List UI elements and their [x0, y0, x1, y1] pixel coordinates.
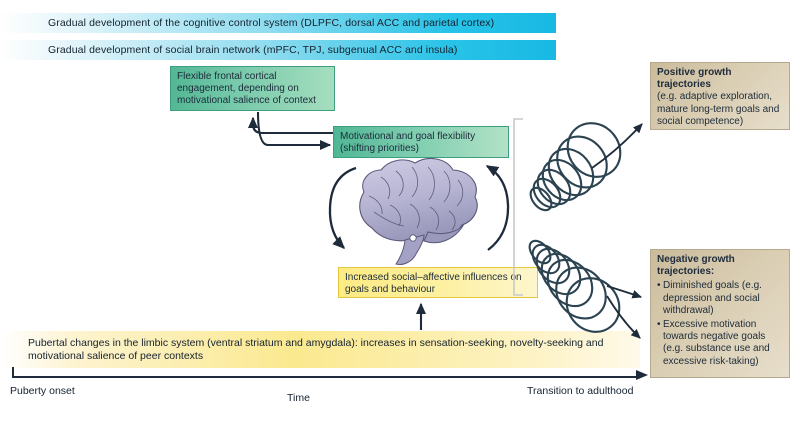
arrow-flexible-motivational [253, 112, 333, 145]
box-increased-social-affective: Increased social–affective influences on… [338, 267, 538, 298]
bar-pubertal-changes: Pubertal changes in the limbic system (v… [0, 331, 640, 368]
brain-illustration [360, 159, 477, 265]
negative-bullet-item: • Diminished goals (e.g. depression and … [657, 280, 783, 317]
arrow-cycle-left [330, 168, 356, 248]
negative-bullet-1: Diminished goals (e.g. depression and so… [663, 280, 783, 317]
diagram-canvas: Gradual development of the cognitive con… [0, 0, 800, 421]
arrow-cycle-right [487, 166, 508, 250]
box-motivational-goal-flexibility: Motivational and goal flexibility (shift… [333, 126, 509, 158]
bar-social-brain-network: Gradual development of social brain netw… [0, 40, 556, 60]
negative-title: Negative growth trajectories: [657, 254, 783, 278]
box-positive-growth-trajectories: Positive growth trajectories (e.g. adapt… [650, 62, 790, 130]
bar-cognitive-label: Gradual development of the cognitive con… [48, 17, 494, 29]
positive-title: Positive growth trajectories [657, 67, 783, 91]
box-flexible-frontal-engagement: Flexible frontal cortical engagement, de… [170, 66, 335, 111]
box-increased-label: Increased social–affective influences on… [339, 268, 537, 300]
arrow-to-positive-box [592, 124, 642, 168]
axis-label-time: Time [287, 392, 310, 404]
negative-bullet-item: • Excessive motivation towards negative … [657, 319, 783, 368]
axis-label-puberty-onset: Puberty onset [10, 385, 75, 397]
box-flexible-label: Flexible frontal cortical engagement, de… [171, 67, 334, 112]
negative-bullet-2: Excessive motivation towards negative go… [663, 319, 783, 368]
axis-label-transition: Transition to adulthood [527, 385, 633, 397]
expanding-spiral-upward [527, 112, 632, 214]
positive-detail: (e.g. adaptive exploration, mature long-… [657, 91, 779, 126]
bar-cognitive-control: Gradual development of the cognitive con… [0, 13, 556, 33]
expanding-spiral-downward [526, 237, 631, 343]
box-motivational-label: Motivational and goal flexibility (shift… [334, 127, 508, 159]
time-axis-line [12, 376, 640, 378]
box-negative-growth-trajectories: Negative growth trajectories: • Diminish… [650, 249, 790, 378]
bar-social-label: Gradual development of social brain netw… [48, 44, 457, 56]
bar-pubertal-label: Pubertal changes in the limbic system (v… [28, 337, 618, 363]
axis-arrowhead-icon [636, 370, 648, 380]
axis-origin-tick [12, 367, 14, 378]
